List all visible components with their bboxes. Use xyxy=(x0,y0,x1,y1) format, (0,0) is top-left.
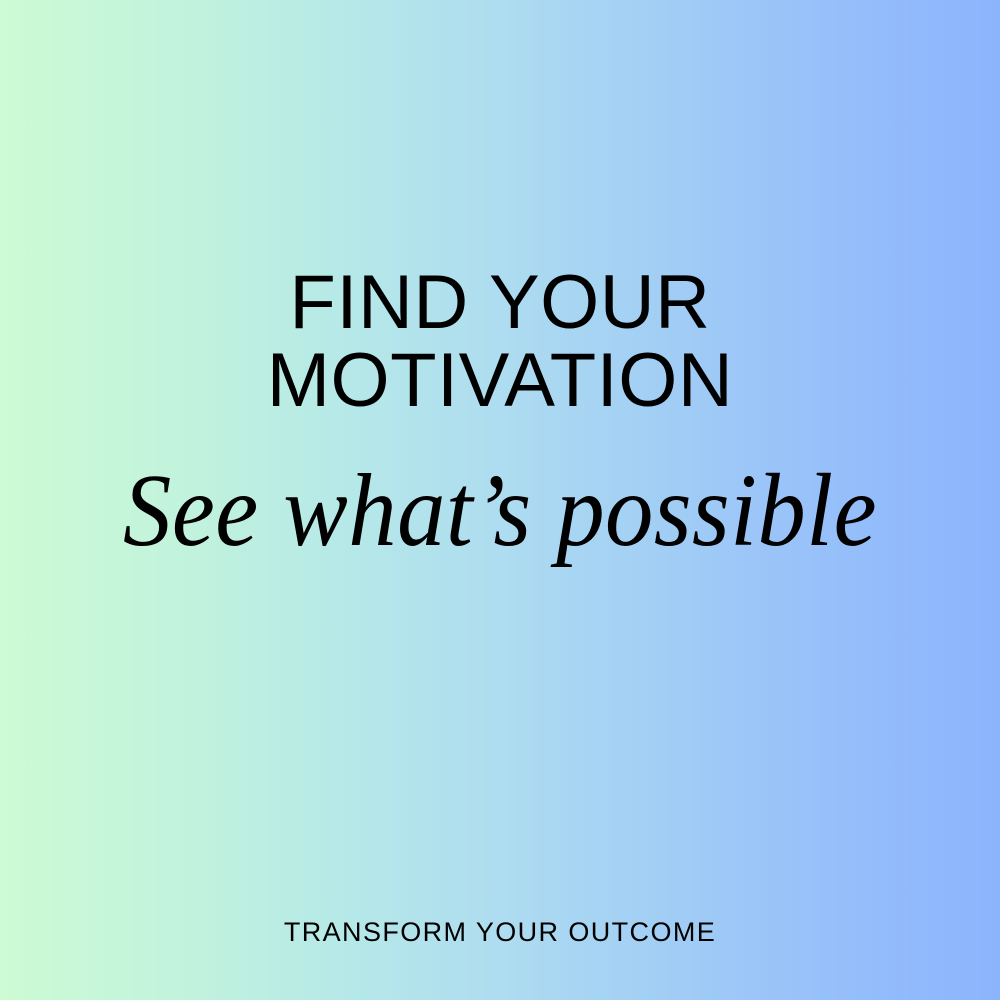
footer-tagline: TRANSFORM YOUR OUTCOME xyxy=(0,916,1000,948)
script-tagline: See what’s possible xyxy=(35,452,965,570)
motivational-poster: FIND YOUR MOTIVATION See what’s possible… xyxy=(0,0,1000,1000)
headline: FIND YOUR MOTIVATION xyxy=(0,264,1000,420)
headline-line-2: MOTIVATION xyxy=(0,342,1000,420)
headline-line-1: FIND YOUR xyxy=(0,264,1000,342)
